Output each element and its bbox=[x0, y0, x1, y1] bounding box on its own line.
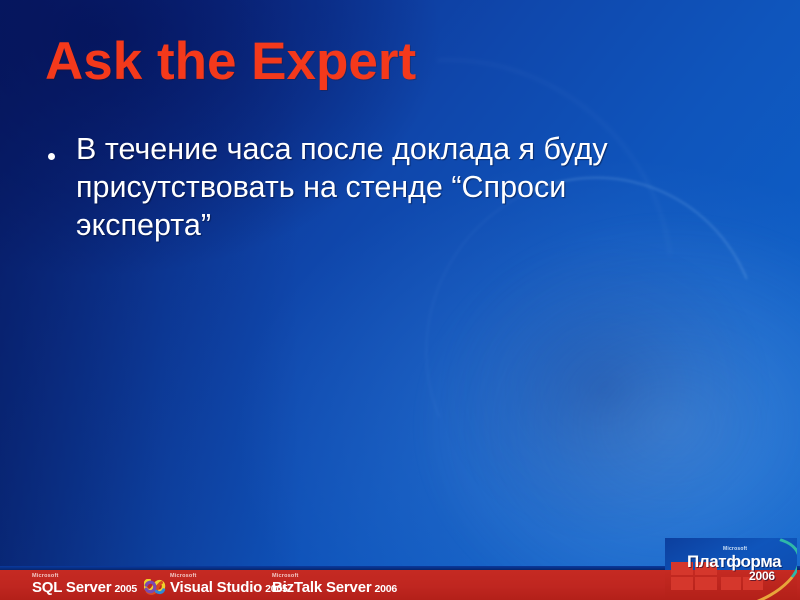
visual-studio-infinity-icon bbox=[144, 579, 166, 596]
badge-year: 2006 bbox=[749, 569, 775, 583]
presentation-slide: Ask the Expert В течение часа после докл… bbox=[0, 0, 800, 600]
slide-body: В течение часа после доклада я буду прис… bbox=[48, 130, 708, 244]
logo-product-year: 2005 bbox=[114, 581, 137, 597]
list-item: В течение часа после доклада я буду прис… bbox=[48, 130, 708, 244]
platforma-badge: Microsoft Платформа 2006 bbox=[665, 538, 797, 600]
logo-product-year: 2006 bbox=[374, 581, 397, 597]
logo-product-name: SQL Server bbox=[32, 580, 111, 596]
logo-product-name: BizTalk Server bbox=[272, 580, 371, 596]
background-swirl-dark bbox=[440, 240, 770, 540]
logo-product-name: Visual Studio bbox=[170, 580, 262, 596]
logo-visual-studio: Microsoft Visual Studio 2005 bbox=[144, 571, 288, 597]
logo-biztalk-server: Microsoft BizTalk Server 2006 bbox=[272, 571, 397, 597]
bullet-text: В течение часа после доклада я буду прис… bbox=[76, 130, 708, 244]
badge-square bbox=[671, 577, 693, 590]
logo-sql-server: Microsoft SQL Server 2005 bbox=[32, 571, 137, 597]
badge-square bbox=[721, 577, 741, 590]
bullet-marker-icon bbox=[48, 130, 76, 165]
badge-square bbox=[695, 577, 717, 590]
slide-title: Ask the Expert bbox=[45, 33, 416, 90]
